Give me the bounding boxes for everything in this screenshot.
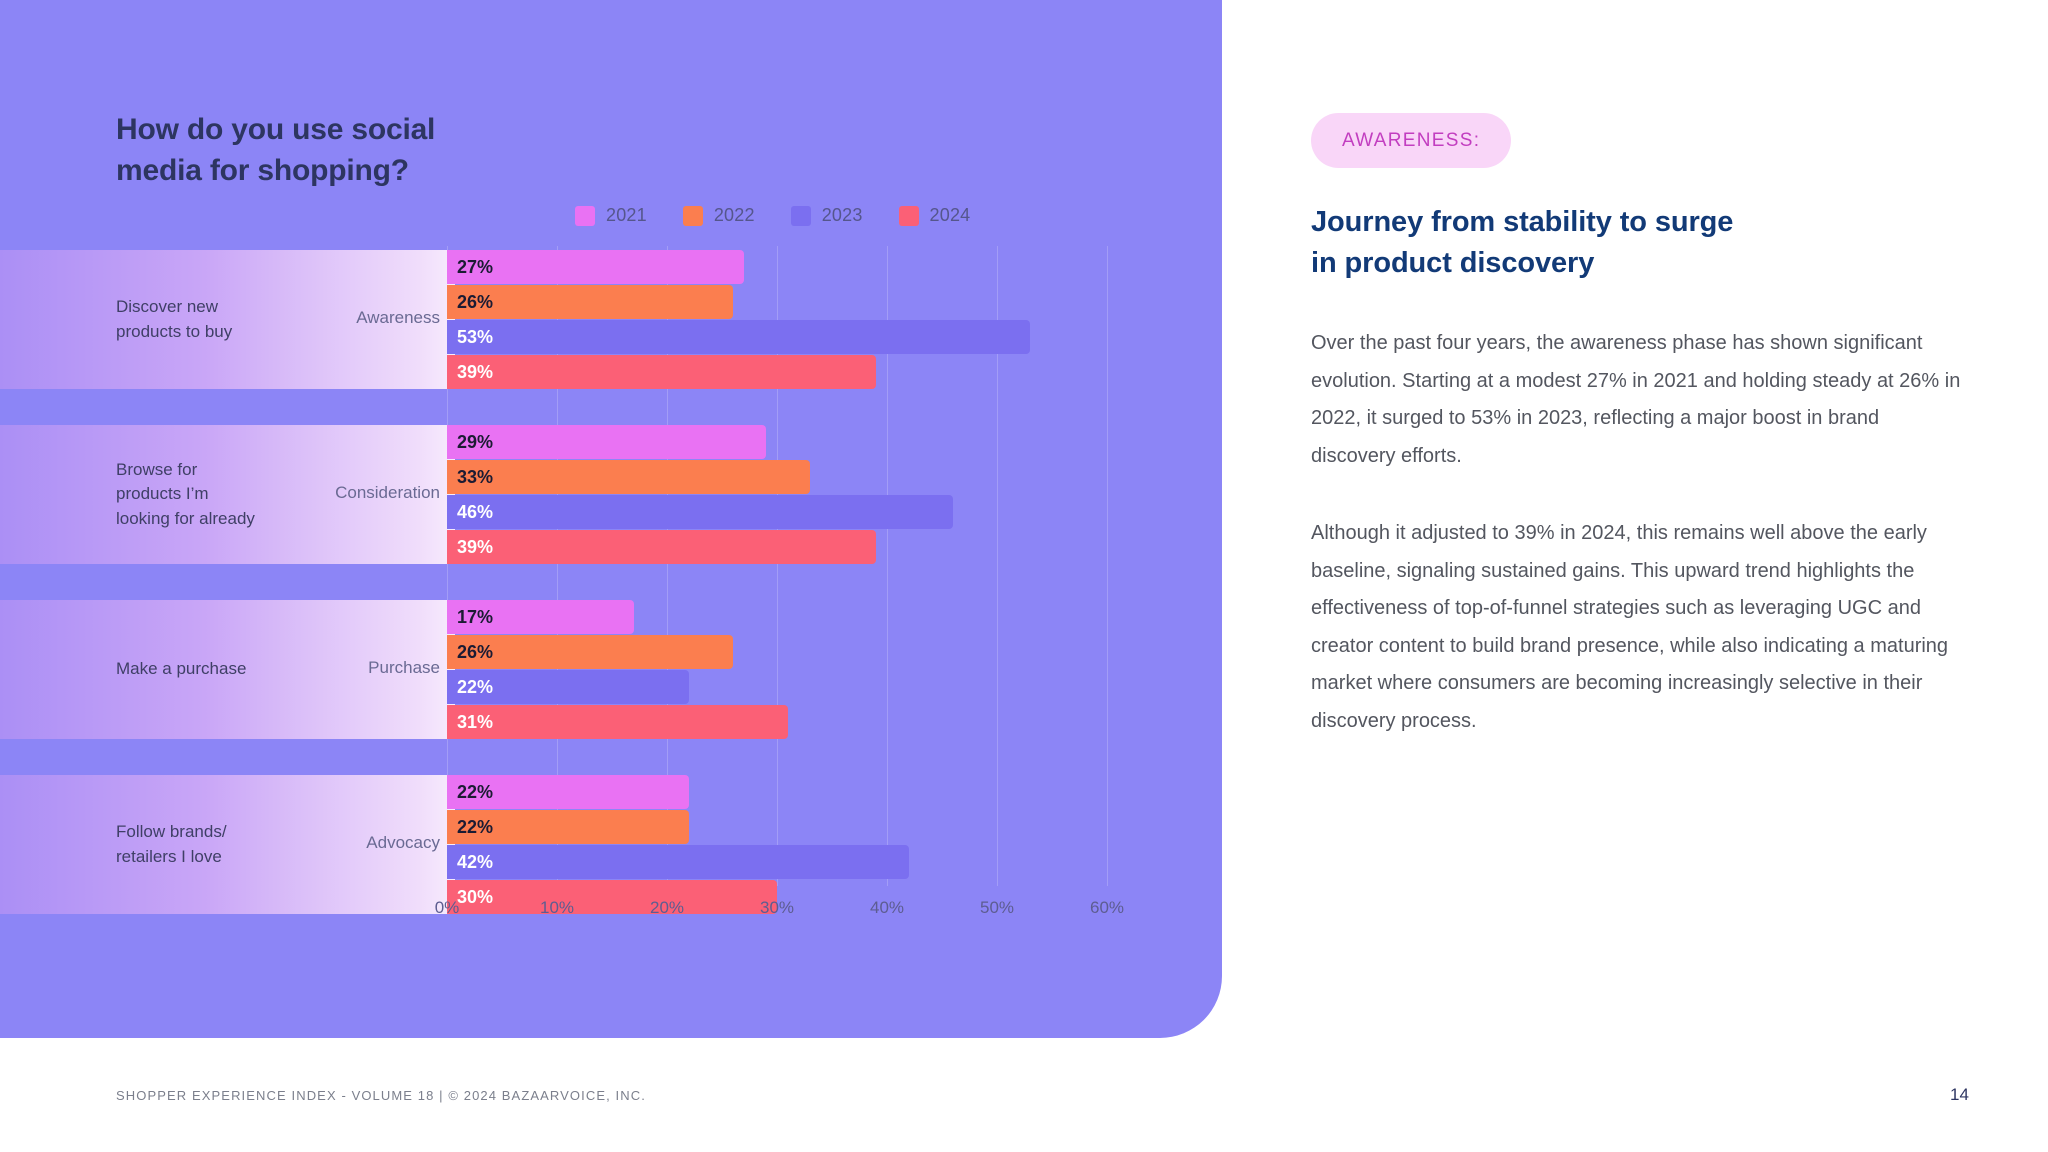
- category-label: Follow brands/retailers I love: [116, 820, 331, 868]
- bar-2021[interactable]: 17%: [447, 600, 634, 634]
- category-label: Browse forproducts I’mlooking for alread…: [116, 458, 331, 530]
- bar-value-label: 26%: [457, 292, 493, 313]
- chart-x-axis: 0%10%20%30%40%50%60%: [0, 898, 1222, 928]
- chart-title-line-1: How do you use social: [116, 110, 636, 151]
- category-label-line: products to buy: [116, 320, 331, 344]
- x-axis-tick-10%: 10%: [540, 898, 574, 918]
- funnel-stage-label: Awareness: [300, 308, 440, 328]
- bar-2022[interactable]: 26%: [447, 285, 733, 319]
- x-axis-tick-0%: 0%: [435, 898, 460, 918]
- gridline-60%: [1107, 246, 1108, 886]
- category-label-line: products I’m: [116, 482, 331, 506]
- x-axis-tick-20%: 20%: [650, 898, 684, 918]
- section-heading: Journey from stability to surge in produ…: [1311, 202, 1951, 284]
- footer-credit: SHOPPER EXPERIENCE INDEX - VOLUME 18 | ©…: [116, 1088, 646, 1103]
- bar-value-label: 46%: [457, 502, 493, 523]
- bar-value-label: 27%: [457, 257, 493, 278]
- bar-2024[interactable]: 31%: [447, 705, 788, 739]
- category-band: Make a purchasePurchase: [0, 600, 455, 739]
- category-label-line: Make a purchase: [116, 657, 331, 681]
- body-paragraph-2: Although it adjusted to 39% in 2024, thi…: [1311, 515, 1966, 741]
- bar-2023[interactable]: 22%: [447, 670, 689, 704]
- bar-value-label: 26%: [457, 642, 493, 663]
- funnel-stage-label: Purchase: [300, 658, 440, 678]
- funnel-stage-label: Consideration: [300, 483, 440, 503]
- x-axis-tick-50%: 50%: [980, 898, 1014, 918]
- bar-2024[interactable]: 39%: [447, 355, 876, 389]
- legend-item-2021[interactable]: 2021: [575, 205, 647, 226]
- legend-item-label: 2021: [606, 205, 647, 226]
- bar-value-label: 53%: [457, 327, 493, 348]
- category-band: Browse forproducts I’mlooking for alread…: [0, 425, 455, 564]
- page-number: 14: [1950, 1085, 1969, 1105]
- bar-2023[interactable]: 42%: [447, 845, 909, 879]
- chart-plot-area: Discover newproducts to buyAwarenessBrow…: [0, 246, 1222, 946]
- bar-value-label: 22%: [457, 677, 493, 698]
- bar-2023[interactable]: 46%: [447, 495, 953, 529]
- section-heading-line-2: in product discovery: [1311, 243, 1951, 284]
- legend-item-2024[interactable]: 2024: [899, 205, 971, 226]
- legend-item-label: 2024: [930, 205, 971, 226]
- x-axis-tick-30%: 30%: [760, 898, 794, 918]
- x-axis-tick-40%: 40%: [870, 898, 904, 918]
- bar-value-label: 29%: [457, 432, 493, 453]
- legend-item-2023[interactable]: 2023: [791, 205, 863, 226]
- category-band: Discover newproducts to buyAwareness: [0, 250, 455, 389]
- legend-swatch-icon: [683, 206, 703, 226]
- bar-2022[interactable]: 26%: [447, 635, 733, 669]
- status-badge-label: AWARENESS:: [1342, 130, 1480, 152]
- bar-2021[interactable]: 29%: [447, 425, 766, 459]
- category-label-line: Browse for: [116, 458, 331, 482]
- body-paragraph-1: Over the past four years, the awareness …: [1311, 325, 1966, 475]
- category-label: Make a purchase: [116, 657, 331, 681]
- chart-legend: 2021202220232024: [575, 205, 970, 226]
- bar-value-label: 42%: [457, 852, 493, 873]
- bar-value-label: 22%: [457, 782, 493, 803]
- bar-value-label: 39%: [457, 537, 493, 558]
- category-label-line: Discover new: [116, 295, 331, 319]
- funnel-stage-label: Advocacy: [300, 833, 440, 853]
- category-label-line: retailers I love: [116, 845, 331, 869]
- bar-value-label: 22%: [457, 817, 493, 838]
- category-band: Follow brands/retailers I loveAdvocacy: [0, 775, 455, 914]
- bar-value-label: 39%: [457, 362, 493, 383]
- right-column: AWARENESS: Journey from stability to sur…: [1311, 0, 2011, 1038]
- chart-title-line-2: media for shopping?: [116, 151, 636, 192]
- section-heading-line-1: Journey from stability to surge: [1311, 202, 1951, 243]
- legend-item-label: 2023: [822, 205, 863, 226]
- bar-2023[interactable]: 53%: [447, 320, 1030, 354]
- bar-2021[interactable]: 22%: [447, 775, 689, 809]
- legend-swatch-icon: [791, 206, 811, 226]
- legend-item-label: 2022: [714, 205, 755, 226]
- category-label-line: looking for already: [116, 507, 331, 531]
- bar-value-label: 17%: [457, 607, 493, 628]
- x-axis-tick-60%: 60%: [1090, 898, 1124, 918]
- category-label: Discover newproducts to buy: [116, 295, 331, 343]
- page-root: How do you use social media for shopping…: [0, 0, 2048, 1152]
- status-badge: AWARENESS:: [1311, 113, 1511, 168]
- bar-2022[interactable]: 22%: [447, 810, 689, 844]
- bar-value-label: 31%: [457, 712, 493, 733]
- chart-title: How do you use social media for shopping…: [116, 110, 636, 192]
- chart-panel: How do you use social media for shopping…: [0, 0, 1222, 1038]
- legend-swatch-icon: [575, 206, 595, 226]
- legend-item-2022[interactable]: 2022: [683, 205, 755, 226]
- bar-2021[interactable]: 27%: [447, 250, 744, 284]
- bar-2022[interactable]: 33%: [447, 460, 810, 494]
- bar-2024[interactable]: 39%: [447, 530, 876, 564]
- category-label-line: Follow brands/: [116, 820, 331, 844]
- legend-swatch-icon: [899, 206, 919, 226]
- bar-value-label: 33%: [457, 467, 493, 488]
